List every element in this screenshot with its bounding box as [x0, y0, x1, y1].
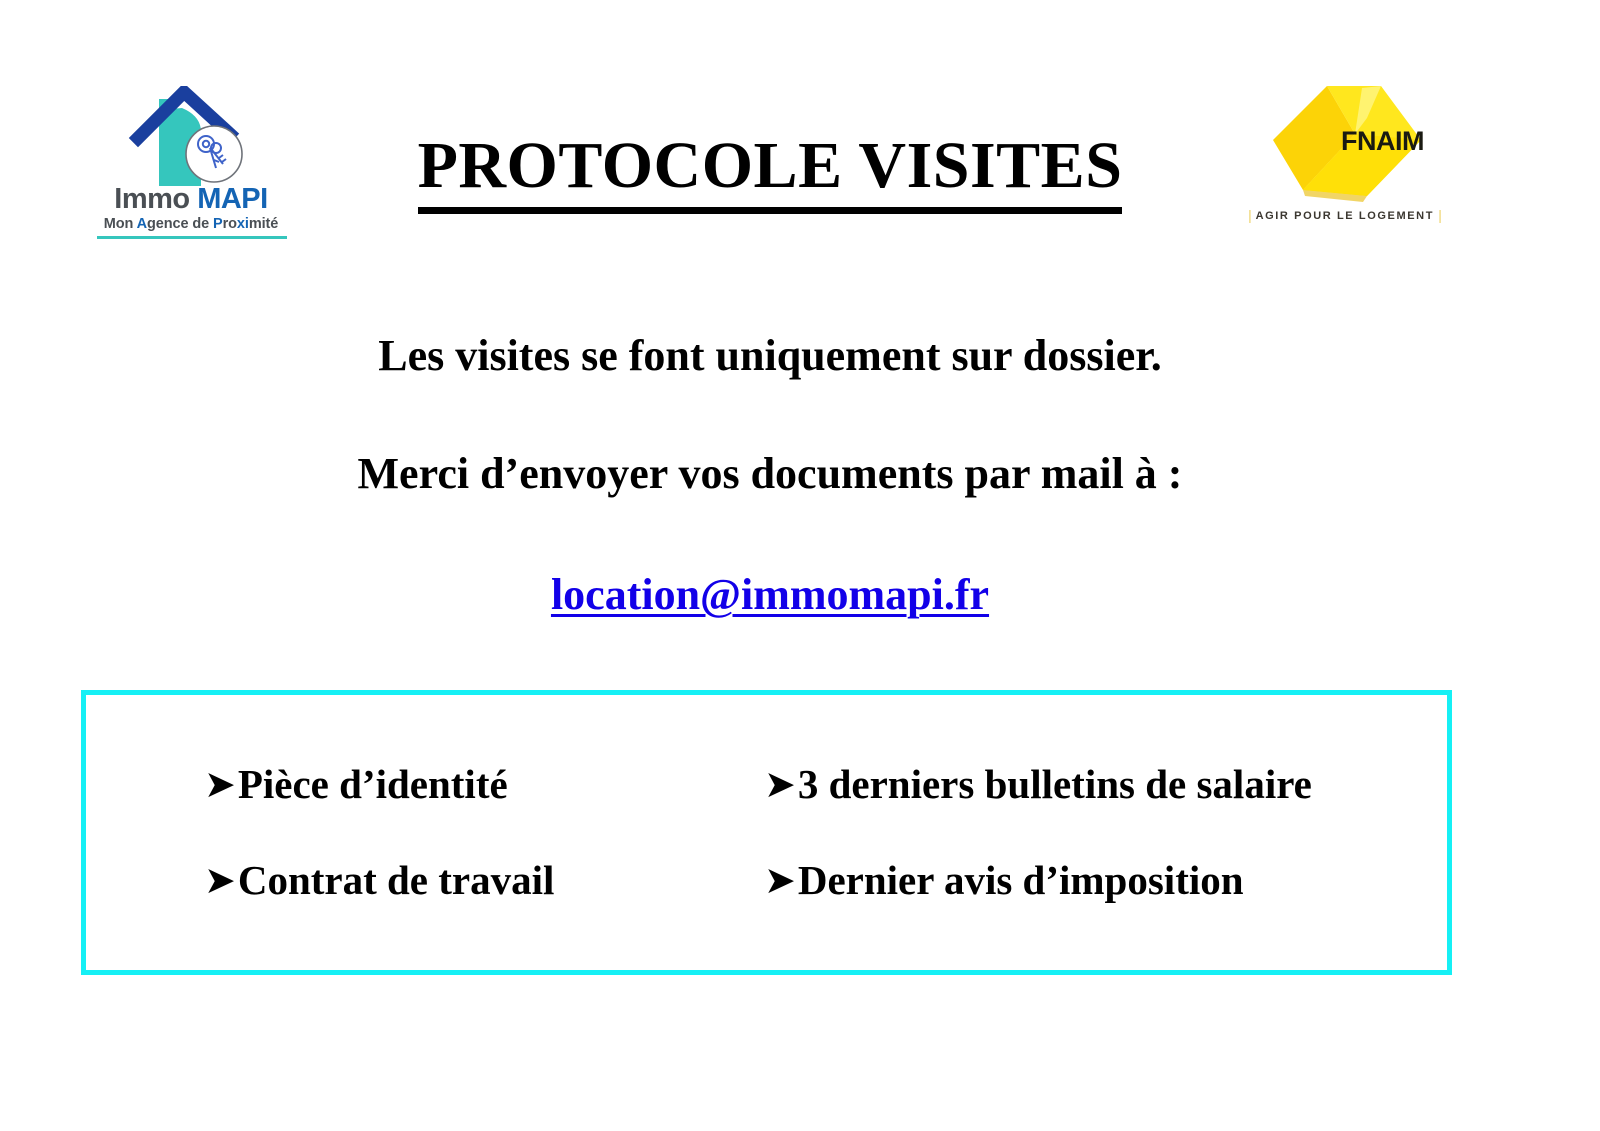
required-documents-box: ➤ Pièce d’identité ➤ 3 derniers bulletin…	[81, 690, 1452, 975]
fnaim-bracket-left: |	[1248, 209, 1251, 224]
list-item-label: 3 derniers bulletins de salaire	[798, 763, 1312, 806]
email-line: location@immomapi.fr	[0, 573, 1540, 617]
immomapi-tagline-part-1: A	[137, 216, 147, 232]
intro-line-1: Les visites se font uniquement sur dossi…	[0, 334, 1540, 378]
immomapi-tagline-part-4: ro	[223, 216, 237, 232]
list-item-label: Contrat de travail	[238, 859, 555, 902]
page-title-text: PROTOCOLE VISITES	[418, 129, 1123, 214]
intro-line-2: Merci d’envoyer vos documents par mail à…	[0, 452, 1540, 496]
page-title: PROTOCOLE VISITES	[0, 133, 1540, 199]
arrow-bullet-icon: ➤	[204, 765, 236, 803]
email-link[interactable]: location@immomapi.fr	[551, 570, 989, 619]
list-item-label: Dernier avis d’imposition	[798, 859, 1244, 902]
immomapi-tagline: Mon Agence de Proximité	[86, 217, 296, 232]
arrow-bullet-icon: ➤	[764, 861, 796, 899]
immomapi-underline-rule	[97, 236, 287, 239]
list-item: ➤ 3 derniers bulletins de salaire	[764, 763, 1447, 806]
immomapi-tagline-part-3: P	[213, 216, 223, 232]
list-item-label: Pièce d’identité	[238, 763, 508, 806]
immomapi-tagline-part-6: mité	[249, 216, 278, 232]
list-item: ➤ Pièce d’identité	[204, 763, 764, 806]
fnaim-bracket-right: |	[1439, 209, 1442, 224]
fnaim-tagline: | AGIR POUR LE LOGEMENT |	[1245, 210, 1445, 222]
fnaim-tagline-text: AGIR POUR LE LOGEMENT	[1256, 210, 1434, 222]
immomapi-tagline-part-2: gence de	[147, 216, 213, 232]
immomapi-tagline-part-0: Mon	[104, 216, 137, 232]
list-item: ➤ Contrat de travail	[204, 859, 764, 902]
arrow-bullet-icon: ➤	[764, 765, 796, 803]
required-documents-grid: ➤ Pièce d’identité ➤ 3 derniers bulletin…	[86, 695, 1447, 970]
slide-canvas: Immo MAPI Mon Agence de Proximité FNAIM	[0, 0, 1600, 1131]
immomapi-tagline-part-5: xi	[237, 216, 249, 232]
list-item: ➤ Dernier avis d’imposition	[764, 859, 1447, 902]
arrow-bullet-icon: ➤	[204, 861, 236, 899]
